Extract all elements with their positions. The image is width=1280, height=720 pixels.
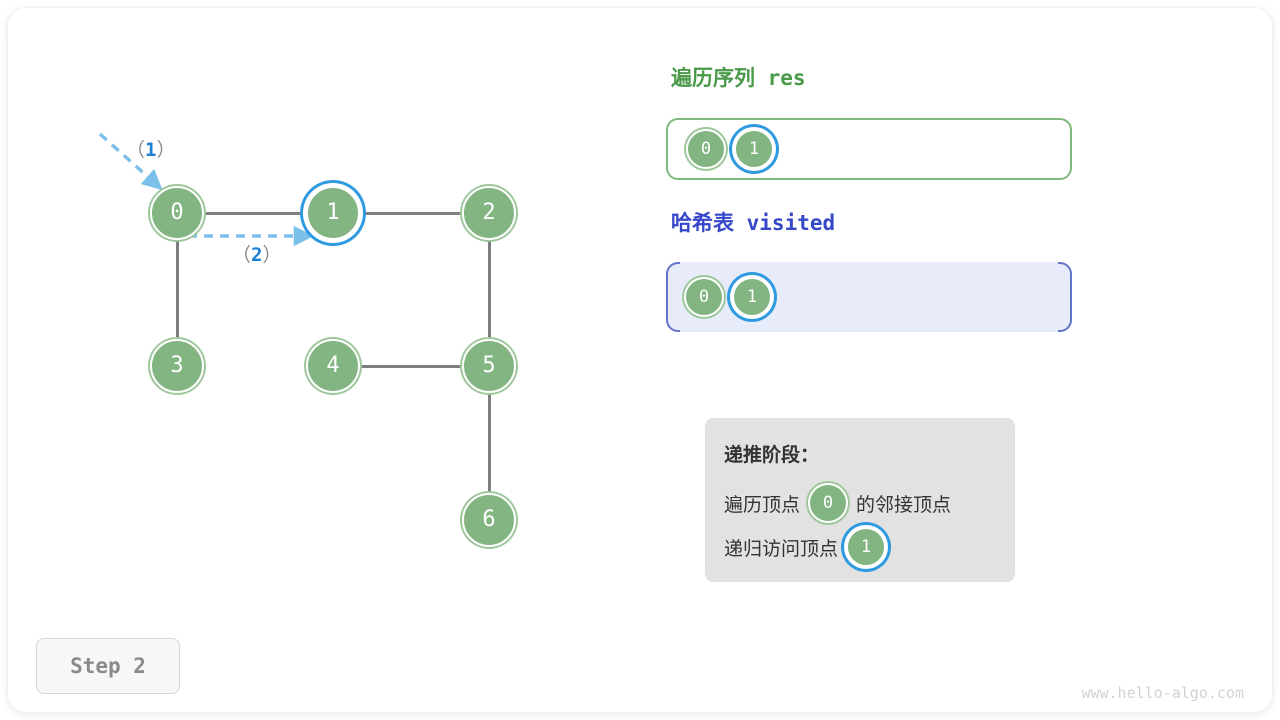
res-title: 遍历序列 res: [671, 62, 806, 92]
graph-node-1[interactable]: 1: [306, 186, 360, 240]
res-items: 0 1: [686, 129, 774, 169]
phase-line-1: 遍历顶点 0 的邻接顶点: [724, 481, 1015, 525]
graph-node-3[interactable]: 3: [150, 339, 204, 393]
res-item-0[interactable]: 0: [686, 129, 726, 169]
visited-item-0[interactable]: 0: [684, 277, 724, 317]
visited-bracket-right: [1058, 262, 1072, 332]
graph-node-0[interactable]: 0: [150, 186, 204, 240]
phase-line-2-chip-label: 1: [861, 537, 871, 557]
arrow-step1: [100, 134, 158, 186]
visited-bracket-left: [666, 262, 680, 332]
phase-info-box: 递推阶段： 遍历顶点 0 的邻接顶点 递归访问顶点 1: [705, 418, 1015, 582]
visited-items: 0 1: [684, 277, 772, 317]
graph-node-6[interactable]: 6: [462, 493, 516, 547]
graph-node-5[interactable]: 5: [462, 339, 516, 393]
graph-node-3-label: 3: [170, 353, 183, 378]
phase-line-1-after: 的邻接顶点: [856, 490, 951, 517]
res-item-1[interactable]: 1: [734, 129, 774, 169]
visited-item-0-label: 0: [699, 287, 709, 307]
watermark: www.hello-algo.com: [1081, 684, 1244, 702]
phase-line-2-before: 递归访问顶点: [724, 534, 838, 561]
phase-line-2: 递归访问顶点 1: [724, 525, 1015, 569]
diagram-canvas: 0 1 2 3 4 5 6 （1） （2） 遍历序列 res 0 1 哈希表 v…: [0, 0, 1280, 720]
phase-heading: 递推阶段：: [724, 440, 1015, 467]
phase-line-1-chip: 0: [808, 483, 848, 523]
state-panel: 遍历序列 res 0 1 哈希表 visited 0 1 递推阶段： 遍历顶点 …: [640, 0, 1280, 720]
visited-item-1[interactable]: 1: [732, 277, 772, 317]
visited-item-1-label: 1: [747, 287, 757, 307]
phase-line-1-before: 遍历顶点: [724, 490, 800, 517]
res-item-1-label: 1: [749, 139, 759, 159]
graph-node-2[interactable]: 2: [462, 186, 516, 240]
graph-panel: 0 1 2 3 4 5 6 （1） （2）: [0, 0, 640, 720]
phase-line-1-chip-label: 0: [823, 493, 833, 513]
visited-box: 0 1: [666, 262, 1072, 332]
res-item-0-label: 0: [701, 139, 711, 159]
res-box: 0 1: [666, 118, 1072, 180]
graph-node-2-label: 2: [482, 200, 495, 225]
graph-node-4[interactable]: 4: [306, 339, 360, 393]
visited-title: 哈希表 visited: [671, 207, 835, 237]
graph-node-1-label: 1: [326, 200, 339, 225]
graph-node-5-label: 5: [482, 353, 495, 378]
graph-node-6-label: 6: [482, 507, 495, 532]
graph-node-0-label: 0: [170, 200, 183, 225]
graph-node-4-label: 4: [326, 353, 339, 378]
phase-line-2-chip: 1: [846, 527, 886, 567]
